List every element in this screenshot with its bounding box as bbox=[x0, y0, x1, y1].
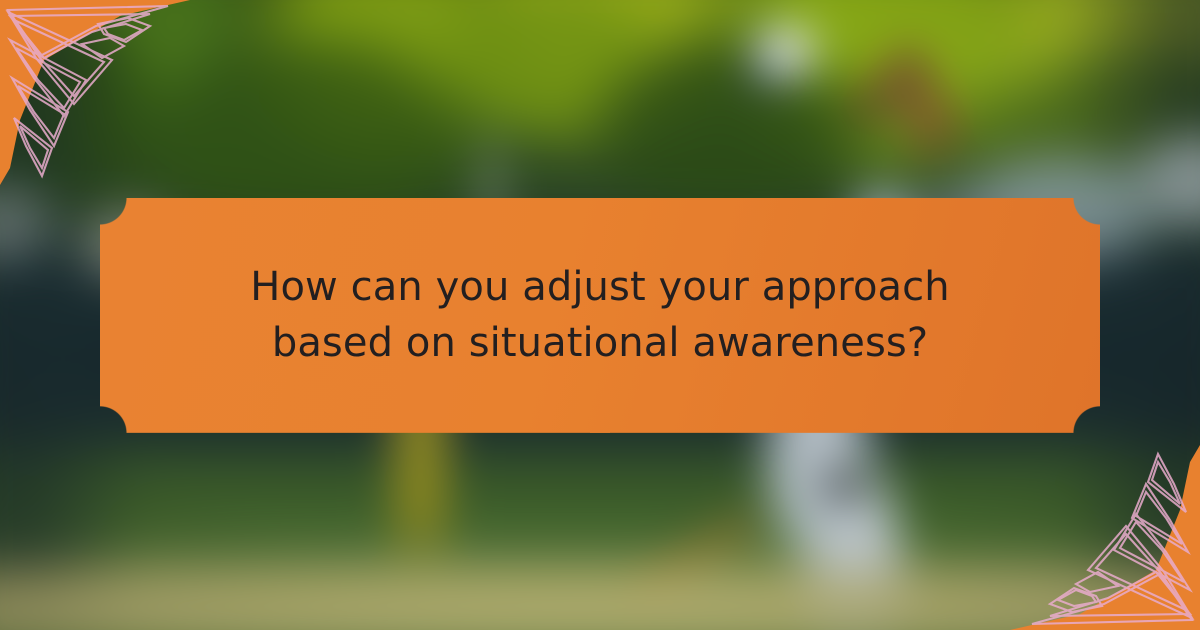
question-banner: How can you adjust your approach based o… bbox=[100, 198, 1100, 433]
quote-card: How can you adjust your approach based o… bbox=[0, 0, 1200, 630]
corner-ornament-top-left bbox=[0, 0, 190, 185]
question-text: How can you adjust your approach based o… bbox=[205, 260, 995, 370]
corner-ornament-bottom-right bbox=[1010, 445, 1200, 630]
